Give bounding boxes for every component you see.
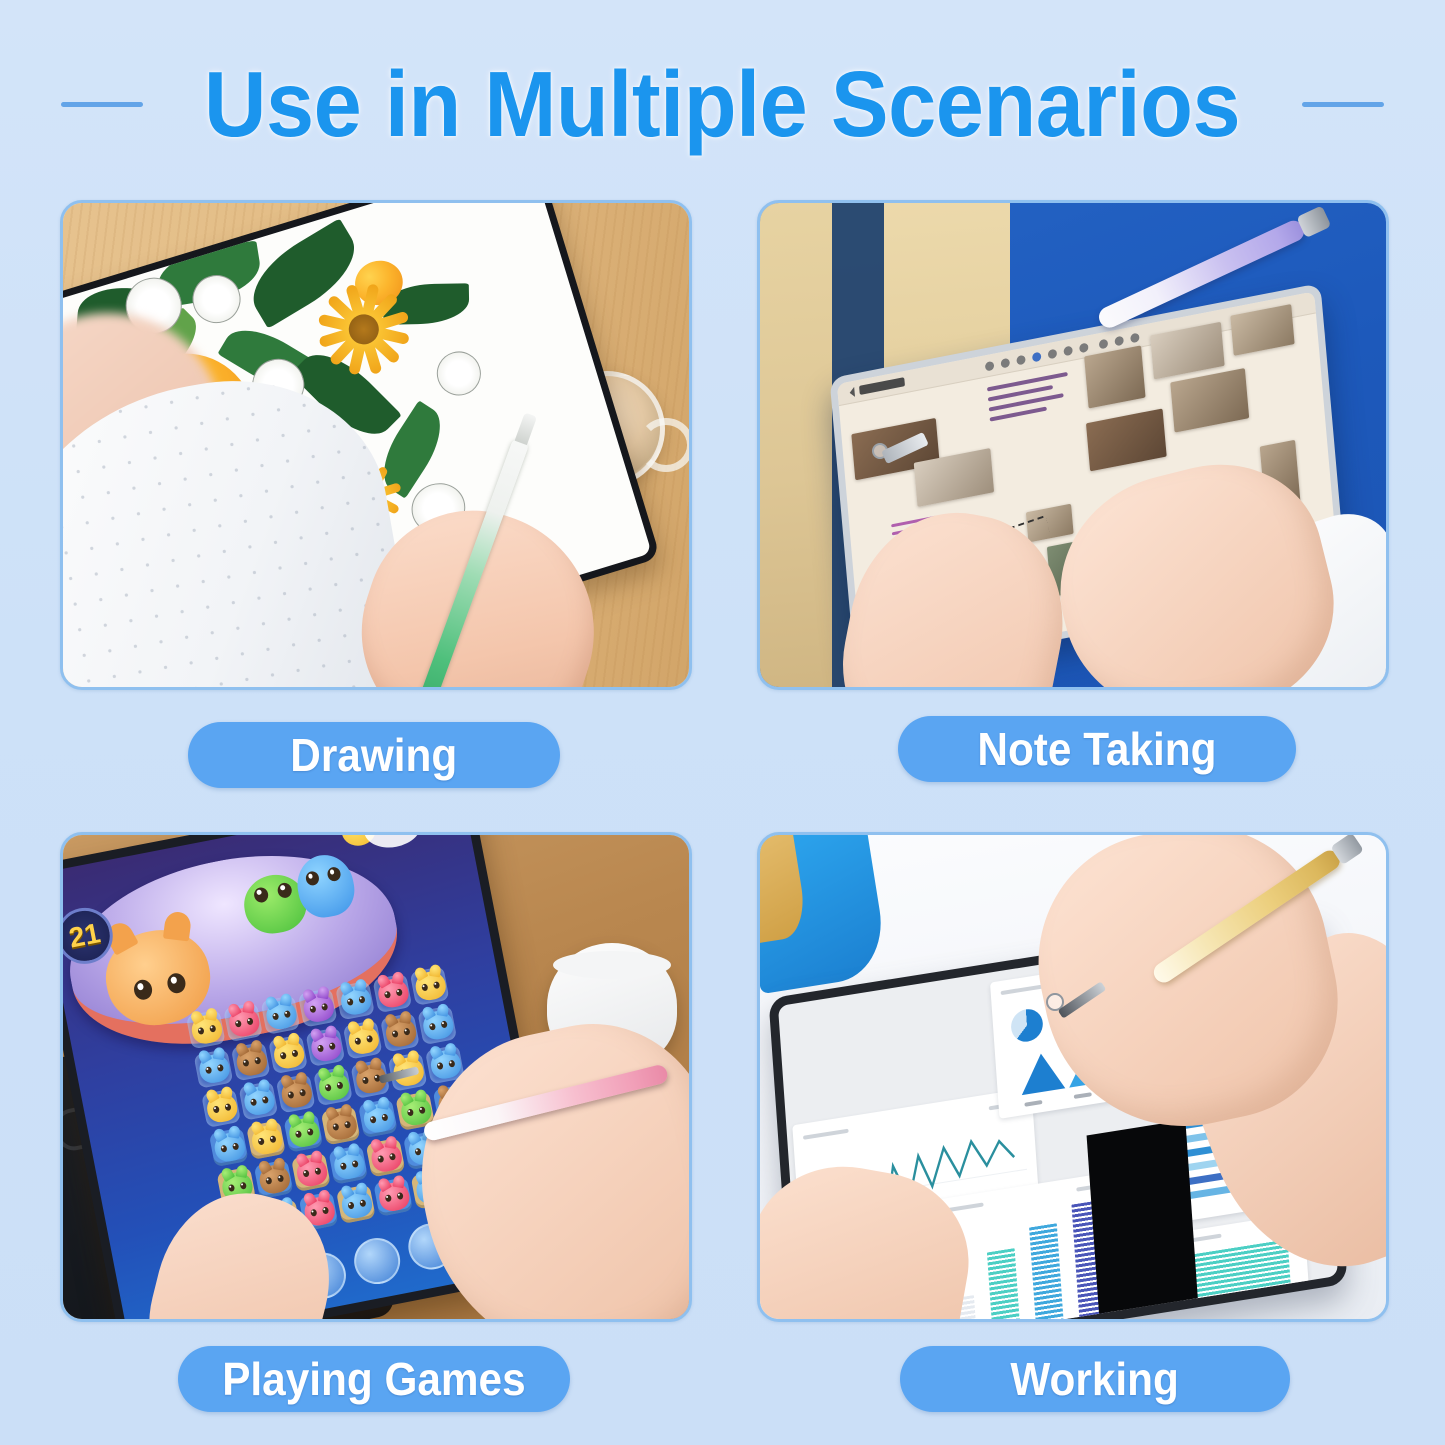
scenario-card-drawing[interactable] [60, 200, 692, 690]
goal-badge: 24 [360, 835, 425, 852]
playing-games-scene-photo: 21 24 [63, 835, 689, 1319]
working-scene-photo [760, 835, 1386, 1319]
label-pill-note-taking[interactable]: Note Taking [898, 716, 1296, 782]
label-pill-note-taking-text: Note Taking [977, 722, 1216, 776]
label-pill-playing-games[interactable]: Playing Games [178, 1346, 570, 1412]
label-pill-drawing[interactable]: Drawing [188, 722, 560, 788]
note-taking-scene-photo [760, 203, 1386, 687]
label-pill-working-text: Working [1011, 1352, 1180, 1406]
promo-banner: Use in Multiple Scenarios [0, 0, 1445, 1445]
label-pill-playing-games-text: Playing Games [222, 1352, 525, 1406]
drawing-scene-photo [63, 203, 689, 687]
label-pill-working[interactable]: Working [900, 1346, 1290, 1412]
scenario-card-playing-games[interactable]: 21 24 [60, 832, 692, 1322]
score-badge-value: 21 [66, 917, 103, 954]
title-right-dash-icon [1302, 102, 1384, 107]
dashboard-dark-panel [1087, 1120, 1200, 1319]
page-title: Use in Multiple Scenarios [0, 48, 1445, 160]
goal-badge-value: 24 [391, 835, 416, 838]
scenario-card-working[interactable] [757, 832, 1389, 1322]
title-left-dash-icon [61, 102, 143, 107]
page-title-text: Use in Multiple Scenarios [204, 58, 1240, 151]
back-arrow-icon [844, 387, 855, 399]
label-pill-drawing-text: Drawing [291, 728, 458, 782]
scenario-card-note-taking[interactable] [757, 200, 1389, 690]
